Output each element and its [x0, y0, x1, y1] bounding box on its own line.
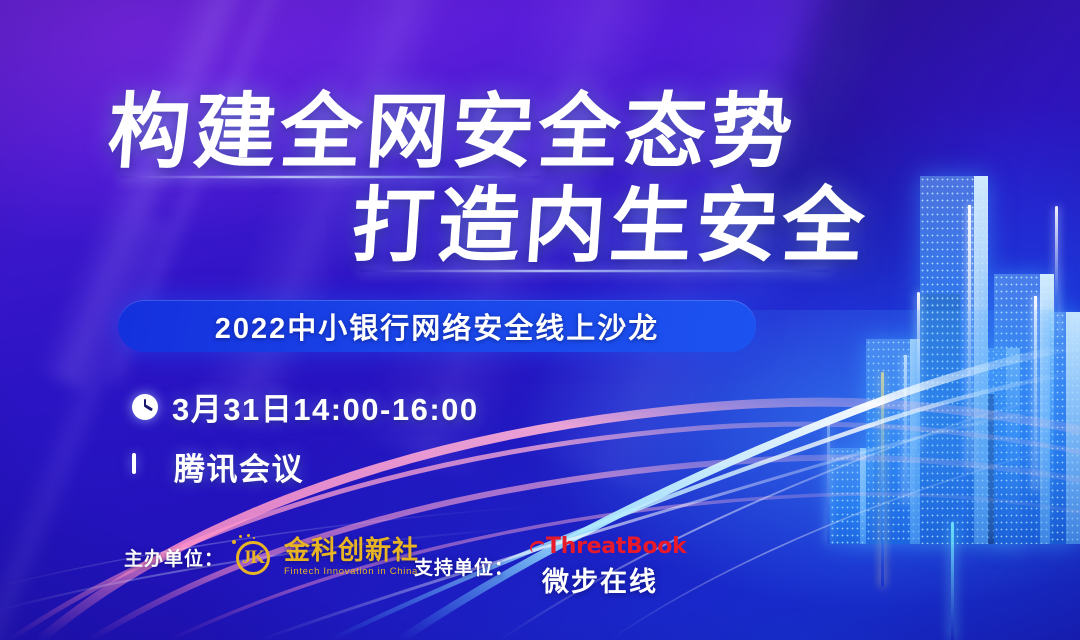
- organizer-name-cn: 金科创新社: [284, 537, 419, 564]
- event-platform-row: 腾讯会议: [132, 444, 304, 489]
- supporter-name-cn: 微步在线: [542, 560, 658, 599]
- headline-line-2: 打造内生安全: [349, 186, 871, 268]
- jk-monogram: JK: [236, 541, 270, 575]
- sponsor-row: 主办单位： JK 金科创新社 Fintech Innovation in Chi…: [124, 520, 684, 582]
- jk-circle-logo-icon: JK: [232, 534, 278, 580]
- organizer-name-en: Fintech Innovation in China: [284, 566, 419, 577]
- supporter-label: 支持单位：: [414, 553, 514, 580]
- subtitle-pill: 2022中小银行网络安全线上沙龙: [118, 300, 756, 352]
- organizer-block: 主办单位： JK 金科创新社 Fintech Innovation in Chi…: [124, 534, 419, 580]
- banner-content: 构建全网安全态势 打造内生安全 2022中小银行网络安全线上沙龙 3月31日14…: [0, 0, 1080, 640]
- supporter-block: 支持单位： ThreatBook 微步在线: [414, 534, 686, 599]
- event-banner: 构建全网安全态势 打造内生安全 2022中小银行网络安全线上沙龙 3月31日14…: [0, 0, 1080, 640]
- subtitle-text: 2022中小银行网络安全线上沙龙: [215, 305, 660, 347]
- event-platform-text: 腾讯会议: [174, 444, 304, 489]
- threatbook-brand-text: ThreatBook: [546, 534, 686, 559]
- headline-line-1: 构建全网安全态势: [105, 92, 799, 174]
- event-datetime-row: 3月31日14:00-16:00: [132, 384, 479, 429]
- organizer-label: 主办单位：: [124, 544, 224, 571]
- event-datetime-text: 3月31日14:00-16:00: [172, 384, 479, 429]
- threatbook-cloud-icon: [528, 540, 545, 553]
- threatbook-logo: ThreatBook: [528, 534, 686, 559]
- clock-icon: [132, 394, 158, 420]
- monitor-icon: [132, 455, 160, 479]
